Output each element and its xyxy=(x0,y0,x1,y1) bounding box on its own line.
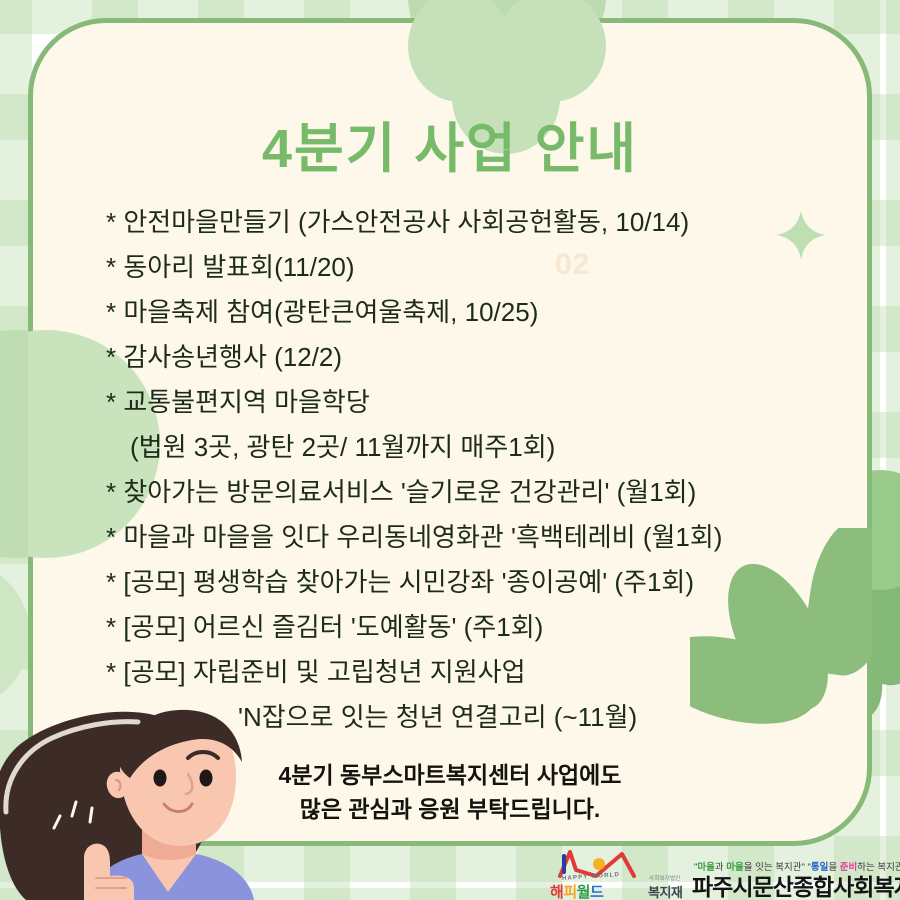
foundation-mark: 사회복지법인 복지재단 xyxy=(646,860,692,900)
tagline-part: 마을 xyxy=(697,862,714,873)
program-list-item: * [공모] 평생학습 찾아가는 시민강좌 '종이공예' (주1회) xyxy=(106,560,806,605)
program-list-item: * 교통불편지역 마을학당 xyxy=(106,380,806,425)
tagline-part: 준비 xyxy=(840,862,857,873)
organization-name: 파주시문산종합사회복지관 xyxy=(692,874,900,900)
character-illustration xyxy=(0,700,292,900)
tagline-part: 하는 복지관" xyxy=(857,862,900,873)
program-list-item: * [공모] 어르신 즐김터 '도예활동' (주1회) xyxy=(106,605,806,650)
foundation-small-text: 사회복지법인 xyxy=(649,874,681,882)
tagline-part: 과 xyxy=(715,862,726,873)
program-list-item: * 안전마을만들기 (가스안전공사 사회공헌활동, 10/14) xyxy=(106,200,806,245)
tagline-part: 통일 xyxy=(811,862,828,873)
poster-root: 02 4분기 사업 안내 * 안전마을만들기 (가스안전공사 사회공헌활동, 1… xyxy=(0,0,900,900)
happyworld-korean-text: 해피월드 xyxy=(550,881,603,900)
organization-block: "마을과 마을을 잇는 복지관" "통일을 준비하는 복지관" 파주시문산종합사… xyxy=(692,861,900,900)
program-list-item: * 동아리 발표회(11/20) xyxy=(106,245,806,290)
page-title: 4분기 사업 안내 xyxy=(0,104,900,183)
tagline-part: 을 xyxy=(828,862,839,873)
program-list-item: * 찾아가는 방문의료서비스 '슬기로운 건강관리' (월1회) xyxy=(106,470,806,515)
tagline-part: 마을 xyxy=(726,862,743,873)
foundation-big-text: 복지재단 xyxy=(648,882,692,900)
program-list-item: * 마을과 마을을 잇다 우리동네영화관 '흑백테레비 (월1회) xyxy=(106,515,806,560)
logo-bar: HAPPY WORLD 해피월드 사회복지법인 복지재단 "마을과 마을을 잇는… xyxy=(548,846,900,900)
program-list-item: * 감사송년행사 (12/2) xyxy=(106,335,806,380)
program-list-item: (법원 3곳, 광탄 2곳/ 11월까지 매주1회) xyxy=(106,425,806,470)
program-list: * 안전마을만들기 (가스안전공사 사회공헌활동, 10/14)* 동아리 발표… xyxy=(106,200,806,740)
tagline-part: 을 잇는 복지관" " xyxy=(744,862,811,873)
program-list-item: * [공모] 자립준비 및 고립청년 지원사업 xyxy=(106,650,806,695)
happyworld-logo: HAPPY WORLD 해피월드 xyxy=(548,848,650,900)
program-list-item: * 마을축제 참여(광탄큰여울축제, 10/25) xyxy=(106,290,806,335)
organization-tagline: "마을과 마을을 잇는 복지관" "통일을 준비하는 복지관" xyxy=(692,861,900,874)
